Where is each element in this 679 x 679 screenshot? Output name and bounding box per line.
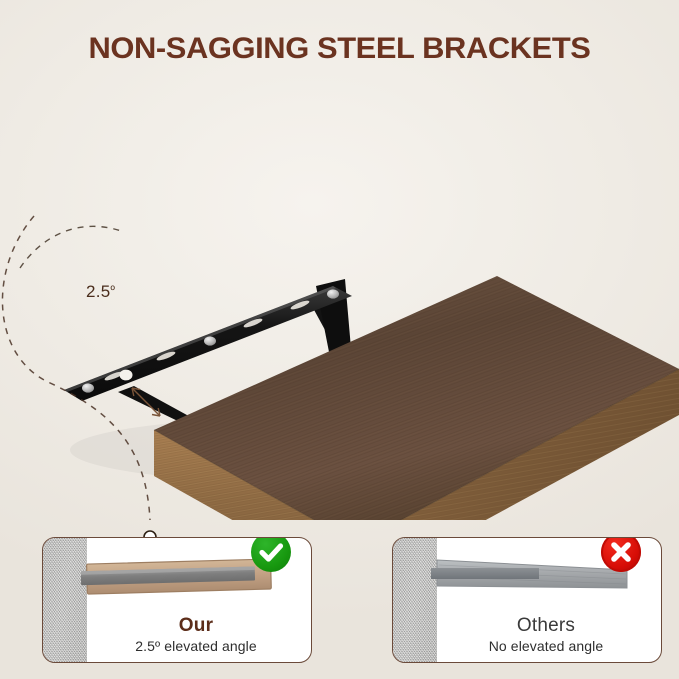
shelf-scene-svg xyxy=(0,120,679,520)
check-icon xyxy=(251,537,291,572)
angle-label: 2.5º xyxy=(86,282,115,302)
screw-right xyxy=(327,289,339,298)
screw-left xyxy=(82,383,94,392)
angle-value: 2.5 xyxy=(86,282,111,301)
comparison-card-our[interactable]: Our 2.5º elevated angle xyxy=(42,537,312,663)
angle-arc xyxy=(20,226,124,268)
degree-symbol: º xyxy=(111,283,116,297)
our-card-subtitle: 2.5º elevated angle xyxy=(87,637,305,655)
floating-shelf xyxy=(154,276,679,520)
check-badge xyxy=(251,537,291,572)
others-card-text: Others No elevated angle xyxy=(437,614,655,655)
product-feature-graphic: NON-SAGGING STEEL BRACKETS xyxy=(0,0,679,679)
comparison-section: Our 2.5º elevated angle xyxy=(0,525,679,675)
hero-illustration xyxy=(0,120,679,520)
cross-badge xyxy=(601,537,641,572)
others-card-title: Others xyxy=(437,614,655,637)
page-title: NON-SAGGING STEEL BRACKETS xyxy=(0,32,679,66)
screw-middle xyxy=(204,336,216,345)
our-card-text: Our 2.5º elevated angle xyxy=(87,614,305,655)
cross-icon xyxy=(601,537,641,572)
comparison-card-others[interactable]: Others No elevated angle xyxy=(392,537,662,663)
screw-pivot xyxy=(120,370,133,381)
our-card-title: Our xyxy=(87,614,305,637)
others-card-subtitle: No elevated angle xyxy=(437,637,655,655)
others-metal-rod xyxy=(431,568,539,579)
